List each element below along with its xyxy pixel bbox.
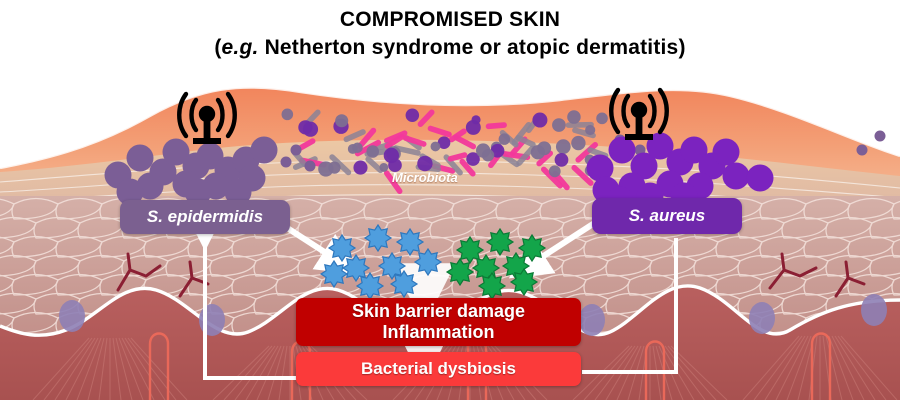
subtitle-prefix: ( (214, 36, 221, 59)
nerve-branches (118, 254, 864, 296)
label-s-epidermidis[interactable]: S. epidermidis (120, 200, 290, 234)
microbiota-annotation: Microbiota (392, 170, 458, 185)
arrow-aureus-to-green-stars (528, 222, 596, 266)
label-s-aureus[interactable]: S. aureus (592, 198, 742, 234)
outcome-dysbiosis-label: Bacterial dysbiosis (361, 359, 516, 379)
outcome-box-skin-damage[interactable]: Skin barrier damage Inflammation (296, 298, 581, 346)
subtitle-rest: Netherton syndrome or atopic dermatitis) (259, 36, 686, 59)
connector-bracket-left (205, 236, 300, 378)
antenna-left-icon (172, 88, 242, 150)
page-subtitle: (e.g. Netherton syndrome or atopic derma… (0, 36, 900, 60)
connector-bracket-right (582, 238, 676, 372)
subtitle-eg: e.g. (222, 36, 259, 59)
page-title: COMPROMISED SKIN (0, 8, 900, 32)
green-star-cells (447, 229, 545, 299)
skin-diagram-figure: COMPROMISED SKIN (e.g. Netherton syndrom… (0, 0, 900, 400)
outcome-damage-line2: Inflammation (382, 322, 494, 343)
outcome-damage-line1: Skin barrier damage (352, 301, 525, 322)
blue-star-cells (321, 225, 441, 299)
antenna-right-icon (604, 84, 674, 146)
outcome-box-dysbiosis[interactable]: Bacterial dysbiosis (296, 352, 581, 386)
